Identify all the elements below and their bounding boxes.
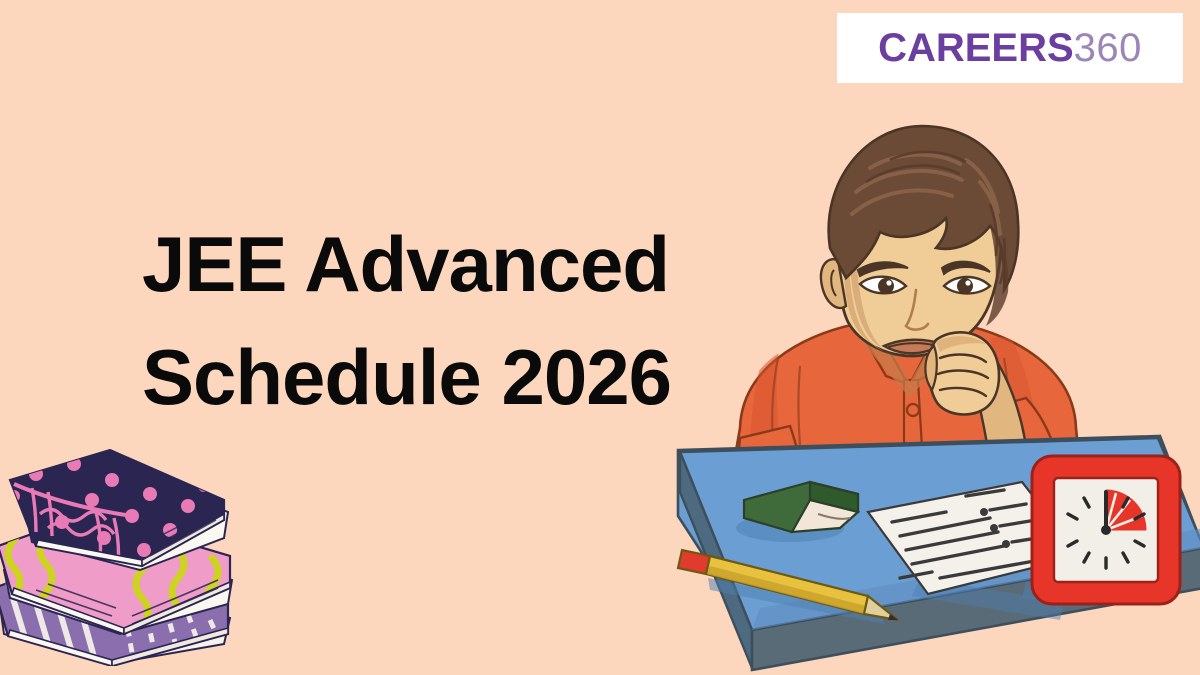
logo-wordmark: CAREERS360 <box>878 28 1142 68</box>
stack-of-books-illustration <box>0 438 248 666</box>
timer-clock <box>1022 456 1180 604</box>
logo-360-text: 360 <box>1074 26 1142 70</box>
student-illustration <box>660 108 1200 675</box>
study-desk <box>678 436 1200 670</box>
banner-alt-text: JEE Advanced Schedule 2026 banner <box>0 0 1 1</box>
banner-root: CAREERS360 JEE Advanced Schedule 2026 <box>0 0 1200 675</box>
careers360-logo[interactable]: CAREERS360 <box>837 13 1183 83</box>
logo-careers-text: CAREERS <box>878 26 1074 70</box>
